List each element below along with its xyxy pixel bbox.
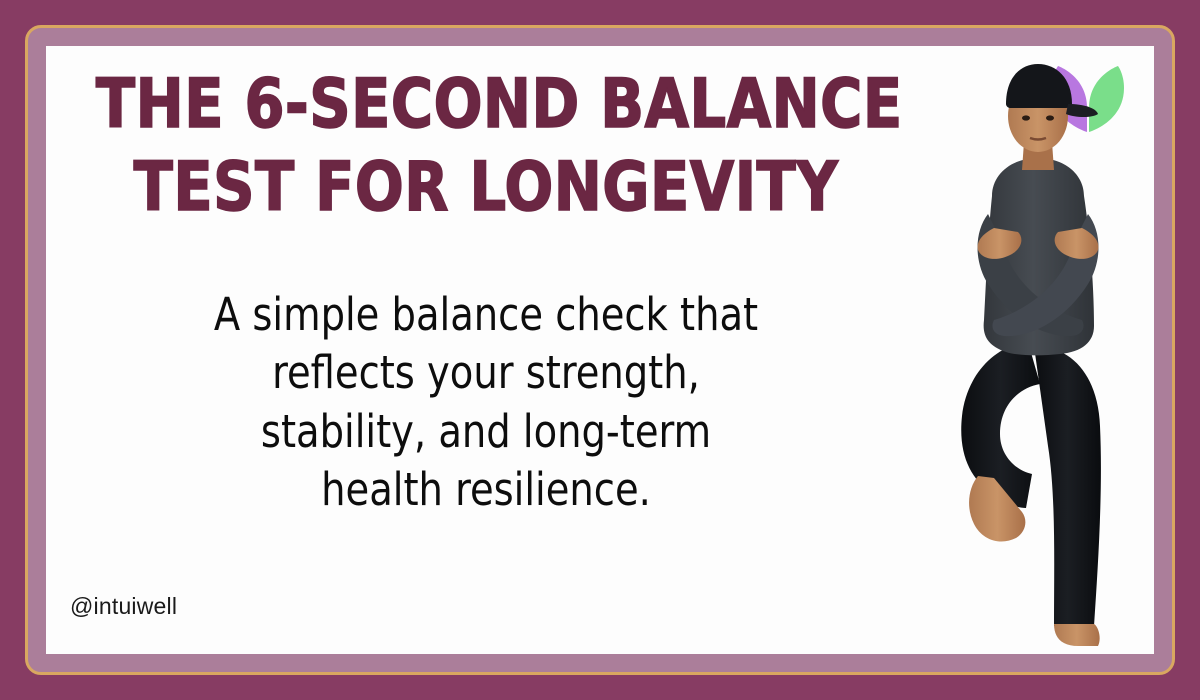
left-hand <box>1055 228 1099 259</box>
headline-line-2: Test for Longevity <box>96 147 876 230</box>
text-column: The 6-Second Balance Test for Longevity … <box>46 46 926 654</box>
subtitle-line-1: A simple balance check that <box>125 286 847 345</box>
headline-line-1: The 6-Second Balance <box>96 64 876 147</box>
subtitle-line-2: reflects your strength, <box>125 344 847 403</box>
right-arm <box>992 214 1098 336</box>
subtitle-line-4: health resilience. <box>125 461 847 520</box>
torso-top <box>984 158 1094 355</box>
lifted-foot <box>969 476 1025 542</box>
neck <box>1022 142 1054 170</box>
leaf-right-icon <box>1089 66 1124 132</box>
standing-leg <box>1034 346 1101 626</box>
social-handle: @intuiwell <box>70 593 177 620</box>
poster-root: The 6-Second Balance Test for Longevity … <box>0 0 1200 700</box>
standing-foot <box>1054 624 1100 646</box>
content-card: The 6-Second Balance Test for Longevity … <box>46 46 1154 654</box>
page-title: The 6-Second Balance Test for Longevity <box>96 64 876 230</box>
left-arm <box>978 214 1084 336</box>
mouth <box>1030 138 1046 140</box>
balance-pose-photo <box>922 46 1154 654</box>
subtitle-text: A simple balance check that reflects you… <box>125 286 847 520</box>
subtitle-line-3: stability, and long-term <box>125 403 847 462</box>
leaf-left-icon <box>1052 66 1087 132</box>
left-eye <box>1022 115 1030 120</box>
right-hand <box>978 228 1022 259</box>
lifted-leg <box>961 342 1040 508</box>
leaf-sprout-logo <box>1044 62 1132 136</box>
